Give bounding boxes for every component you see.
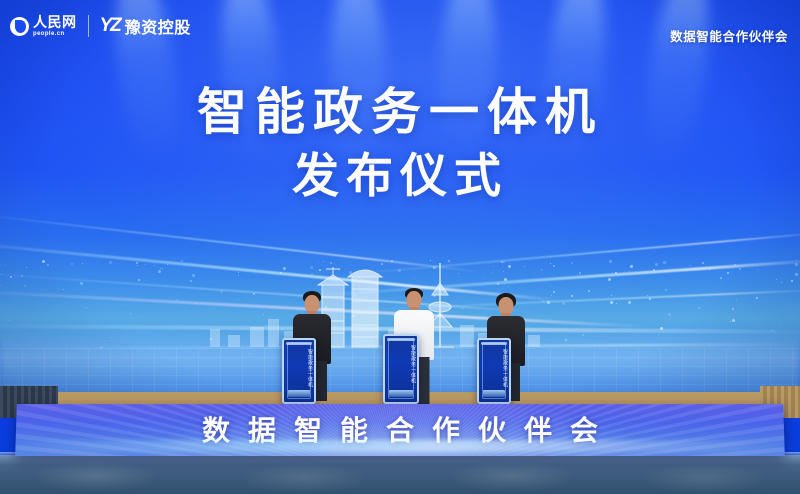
title-line-1: 智能政务一体机 <box>0 86 800 139</box>
partner-name: 豫资控股 <box>125 14 191 38</box>
title-line-2: 发布仪式 <box>0 151 800 203</box>
podium-panel: 智能政务一体机 <box>282 338 316 404</box>
partner-logo: YZ 豫资控股 <box>100 14 191 38</box>
podium-base-light <box>483 390 506 397</box>
podium-panel: 智能政务一体机 <box>383 334 419 404</box>
people-cn-logo: 人民网 people.cn <box>10 15 77 37</box>
podium-right[interactable]: 智能政务一体机 <box>477 338 511 404</box>
people-cn-mark-icon <box>10 17 29 36</box>
banner-light-sweep <box>15 440 784 452</box>
podium-base-light <box>389 390 413 397</box>
podium-base-light <box>288 390 311 397</box>
banner-panel: 数据智能合作伙伴会 <box>15 404 785 456</box>
podium-center[interactable]: 智能政务一体机 <box>383 334 419 404</box>
partner-mark-icon: YZ <box>100 15 120 37</box>
people-cn-domain: people.cn <box>33 31 77 37</box>
podium-label: 智能政务一体机 <box>284 349 314 388</box>
podium-left[interactable]: 智能政务一体机 <box>282 338 316 404</box>
podium-panel: 智能政务一体机 <box>477 338 511 404</box>
corner-event-tag: 数据智能合作伙伴会 <box>670 26 788 45</box>
people-cn-name: 人民网 <box>33 15 77 29</box>
podium-label: 智能政务一体机 <box>479 349 509 388</box>
podium-top-light <box>481 342 507 345</box>
floor-carpet <box>0 455 800 494</box>
stage-scene: 智能政务一体机 智能政务一体机 智能政务一体机 数据智能合作伙伴会 <box>0 0 800 494</box>
people-cn-wordmark: 人民网 people.cn <box>33 15 77 37</box>
main-title-block: 智能政务一体机 发布仪式 <box>0 86 800 202</box>
pagoda-main-icon <box>348 270 382 347</box>
logo-bar: 人民网 people.cn YZ 豫资控股 <box>10 14 191 38</box>
podium-top-light <box>286 342 312 345</box>
logo-divider <box>88 15 89 37</box>
podium-label: 智能政务一体机 <box>385 345 417 384</box>
podium-top-light <box>387 338 415 341</box>
stage-led-banner: 数据智能合作伙伴会 <box>0 400 800 460</box>
